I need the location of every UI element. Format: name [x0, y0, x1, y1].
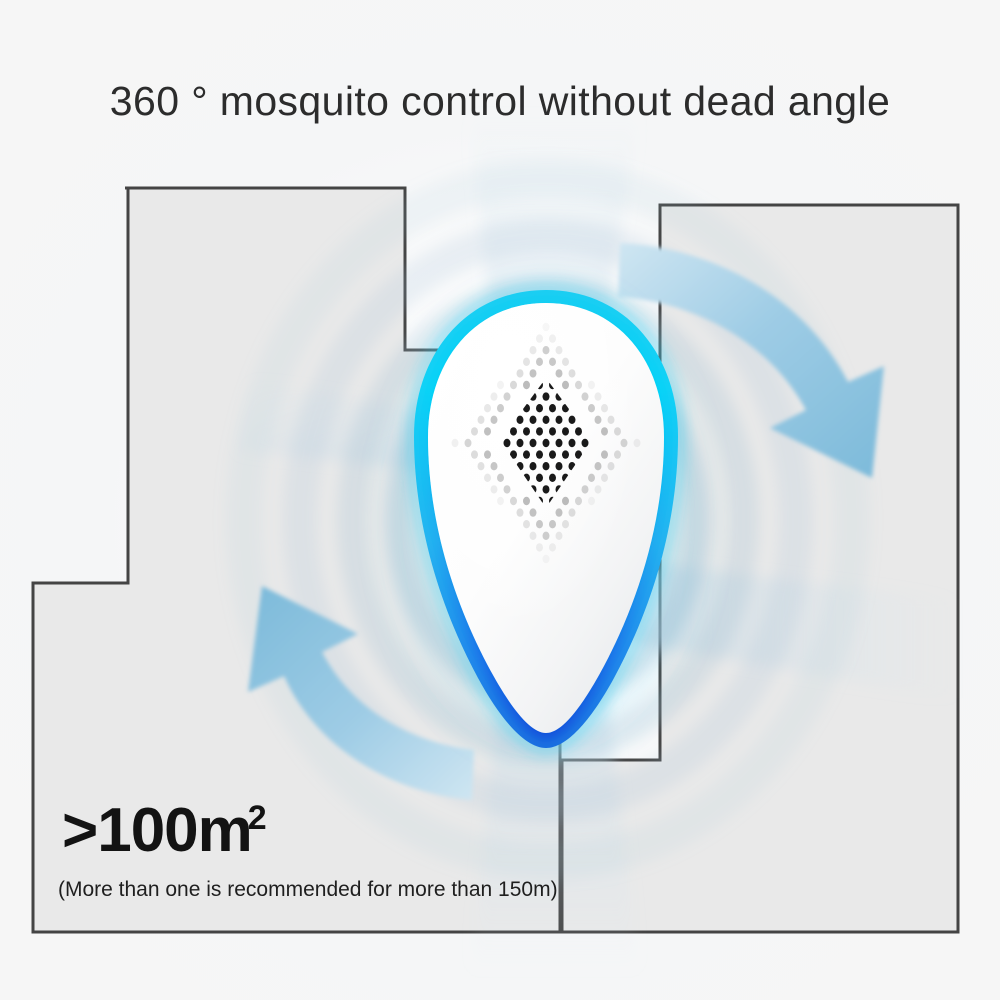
grille-hole — [517, 439, 524, 447]
grille-hole — [536, 427, 543, 435]
grille-hole — [491, 416, 498, 424]
grille-hole — [484, 450, 491, 458]
grille-hole — [471, 427, 478, 435]
grille-hole — [523, 427, 530, 435]
grille-hole — [452, 439, 459, 447]
grille-hole — [543, 346, 550, 354]
grille-hole — [543, 532, 550, 540]
grille-hole — [562, 358, 569, 366]
infographic-page: 360 ° mosquito control without dead angl… — [0, 0, 1000, 1000]
grille-hole — [536, 404, 543, 412]
grille-hole — [556, 508, 563, 516]
grille-hole — [484, 427, 491, 435]
grille-hole — [536, 334, 543, 342]
grille-hole — [556, 369, 563, 377]
grille-hole — [517, 369, 524, 377]
grille-hole — [588, 497, 595, 505]
grille-hole — [588, 404, 595, 412]
grille-hole — [614, 450, 621, 458]
grille-hole — [530, 532, 537, 540]
grille-hole — [595, 485, 602, 493]
grille-hole — [543, 392, 550, 400]
grille-hole — [582, 392, 589, 400]
grille-hole — [549, 404, 556, 412]
grille-hole — [491, 462, 498, 470]
grille-hole — [569, 439, 576, 447]
grille-hole — [497, 404, 504, 412]
grille-hole — [523, 358, 530, 366]
grille-hole — [465, 439, 472, 447]
grille-hole — [471, 450, 478, 458]
grille-hole — [562, 381, 569, 389]
grille-hole — [575, 381, 582, 389]
grille-hole — [549, 450, 556, 458]
grille-hole — [491, 485, 498, 493]
grille-hole — [575, 427, 582, 435]
grille-hole — [504, 392, 511, 400]
grille-hole — [484, 474, 491, 482]
grille-hole — [536, 358, 543, 366]
grille-hole — [517, 508, 524, 516]
grille-hole — [562, 520, 569, 528]
grille-hole — [491, 392, 498, 400]
grille-hole — [582, 485, 589, 493]
grille-hole — [510, 381, 517, 389]
grille-hole — [608, 462, 615, 470]
grille-hole — [543, 416, 550, 424]
grille-hole — [601, 450, 608, 458]
grille-hole — [504, 485, 511, 493]
grille-hole — [556, 462, 563, 470]
coverage-area-exponent: 2 — [248, 799, 266, 837]
coverage-area-number: >100m — [62, 796, 252, 865]
grille-hole — [569, 369, 576, 377]
grille-hole — [569, 416, 576, 424]
grille-hole — [530, 369, 537, 377]
grille-hole — [536, 543, 543, 551]
grille-hole — [536, 450, 543, 458]
grille-hole — [497, 474, 504, 482]
grille-hole — [562, 450, 569, 458]
grille-hole — [523, 450, 530, 458]
grille-hole — [478, 416, 485, 424]
grille-hole — [543, 485, 550, 493]
grille-hole — [549, 520, 556, 528]
grille-hole — [536, 520, 543, 528]
grille-hole — [543, 462, 550, 470]
grille-hole — [523, 497, 530, 505]
grille-hole — [582, 439, 589, 447]
grille-hole — [484, 404, 491, 412]
grille-hole — [595, 392, 602, 400]
ultrasonic-mosquito-repeller — [378, 275, 714, 765]
grille-hole — [588, 381, 595, 389]
grille-hole — [601, 404, 608, 412]
grille-hole — [530, 508, 537, 516]
grille-hole — [601, 427, 608, 435]
grille-hole — [549, 427, 556, 435]
grille-hole — [556, 439, 563, 447]
grille-hole — [595, 416, 602, 424]
grille-hole — [549, 474, 556, 482]
grille-hole — [569, 508, 576, 516]
grille-hole — [510, 497, 517, 505]
grille-hole — [588, 474, 595, 482]
grille-hole — [530, 439, 537, 447]
grille-hole — [543, 439, 550, 447]
grille-hole — [562, 427, 569, 435]
grille-hole — [614, 427, 621, 435]
grille-hole — [575, 497, 582, 505]
grille-hole — [530, 416, 537, 424]
grille-hole — [556, 532, 563, 540]
grille-hole — [497, 497, 504, 505]
grille-hole — [556, 346, 563, 354]
grille-hole — [523, 520, 530, 528]
grille-hole — [497, 381, 504, 389]
grille-hole — [549, 334, 556, 342]
grille-hole — [543, 323, 550, 331]
coverage-area-value: >100m2 — [62, 800, 266, 862]
grille-hole — [504, 439, 511, 447]
grille-hole — [595, 462, 602, 470]
grille-hole — [549, 543, 556, 551]
grille-hole — [601, 474, 608, 482]
grille-hole — [556, 416, 563, 424]
grille-hole — [530, 346, 537, 354]
grille-hole — [634, 439, 641, 447]
grille-hole — [608, 416, 615, 424]
grille-hole — [621, 439, 628, 447]
grille-hole — [549, 358, 556, 366]
coverage-area-note: (More than one is recommended for more t… — [58, 878, 558, 902]
grille-hole — [562, 497, 569, 505]
grille-hole — [530, 462, 537, 470]
grille-hole — [536, 474, 543, 482]
grille-hole — [543, 555, 550, 563]
grille-hole — [517, 416, 524, 424]
grille-hole — [510, 427, 517, 435]
grille-hole — [523, 381, 530, 389]
grille-hole — [478, 462, 485, 470]
